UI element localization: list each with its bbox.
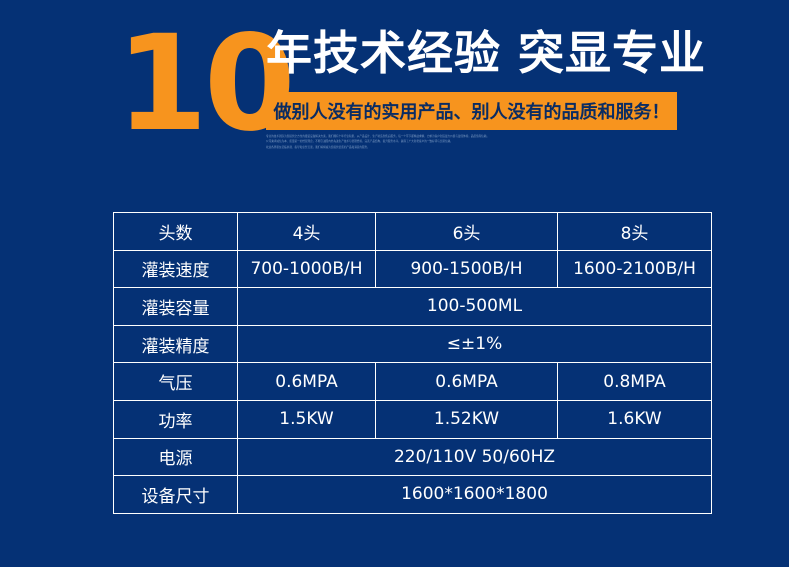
table-row: 灌装精度 ≤±1% <box>114 325 712 363</box>
cell-value-merged: 100-500ML <box>238 288 712 326</box>
tagline-text: 做别人没有的实用产品、别人没有的品质和服务！ <box>274 98 670 124</box>
cell-value-merged: ≤±1% <box>238 325 712 363</box>
cell-value: 1.6KW <box>558 400 712 438</box>
table-row: 功率 1.5KW 1.52KW 1.6KW <box>114 400 712 438</box>
table-body: 头数 4头 6头 8头 灌装速度 700-1000B/H 900-1500B/H… <box>114 213 712 514</box>
table-row: 设备尺寸 1600*1600*1800 <box>114 476 712 514</box>
cell-value: 8头 <box>558 213 712 251</box>
table-row: 灌装容量 100-500ML <box>114 288 712 326</box>
row-label: 电源 <box>114 438 238 476</box>
row-label: 功率 <box>114 400 238 438</box>
row-label: 灌装速度 <box>114 250 238 288</box>
cell-value: 6头 <box>376 213 558 251</box>
tagline-banner: 做别人没有的实用产品、别人没有的品质和服务！ <box>266 92 677 130</box>
table-row: 气压 0.6MPA 0.6MPA 0.8MPA <box>114 363 712 401</box>
cell-value-merged: 220/110V 50/60HZ <box>238 438 712 476</box>
cell-value: 1.52KW <box>376 400 558 438</box>
row-label: 灌装容量 <box>114 288 238 326</box>
headline-text: 年技术经验 突显专业 <box>266 27 706 79</box>
row-label: 气压 <box>114 363 238 401</box>
cell-value: 1.5KW <box>238 400 376 438</box>
promo-header: 10 年技术经验 突显专业 做别人没有的实用产品、别人没有的品质和服务！ 专业的… <box>0 0 789 200</box>
row-label: 设备尺寸 <box>114 476 238 514</box>
table-row: 头数 4头 6头 8头 <box>114 213 712 251</box>
specification-table: 头数 4头 6头 8头 灌装速度 700-1000B/H 900-1500B/H… <box>113 212 712 514</box>
row-label: 灌装精度 <box>114 325 238 363</box>
cell-value: 4头 <box>238 213 376 251</box>
table-row: 电源 220/110V 50/60HZ <box>114 438 712 476</box>
microtext-block: 专业的技术团队为您提供全方位的灌装设备解决方案，我们拥有十年行业积累，从产品设计… <box>266 134 677 150</box>
cell-value: 0.6MPA <box>376 363 558 401</box>
cell-value: 900-1500B/H <box>376 250 558 288</box>
cell-value: 0.6MPA <box>238 363 376 401</box>
cell-value: 700-1000B/H <box>238 250 376 288</box>
cell-value-merged: 1600*1600*1800 <box>238 476 712 514</box>
cell-value: 1600-2100B/H <box>558 250 712 288</box>
cell-value: 0.8MPA <box>558 363 712 401</box>
microtext-line: 欢迎各界朋友莅临参观、指导和业务洽谈，我们将竭诚为您提供优质的产品和满意的服务。 <box>266 145 677 150</box>
row-label: 头数 <box>114 213 238 251</box>
table-row: 灌装速度 700-1000B/H 900-1500B/H 1600-2100B/… <box>114 250 712 288</box>
